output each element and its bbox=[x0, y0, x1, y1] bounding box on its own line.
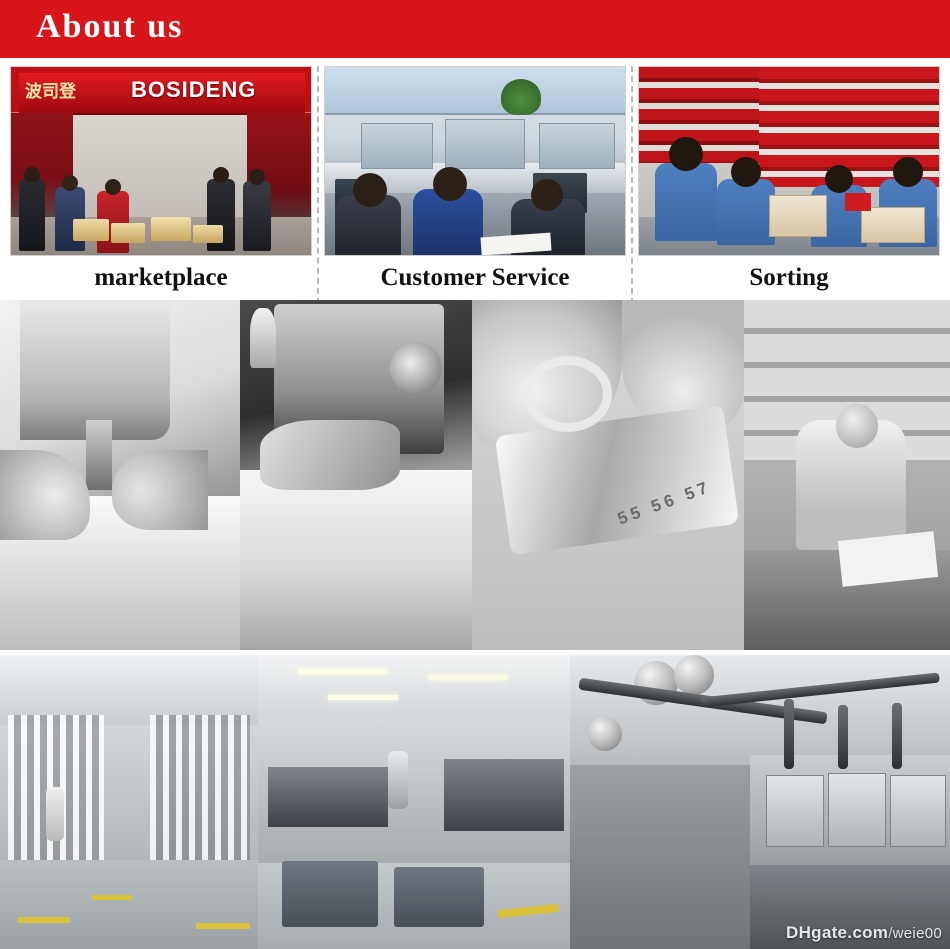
worker-1-head bbox=[669, 137, 703, 171]
shopper-2-head bbox=[62, 175, 78, 191]
shopper-5 bbox=[243, 181, 271, 251]
customer-service-photo bbox=[324, 66, 626, 256]
vertical-pipe-1 bbox=[784, 699, 794, 769]
staff-2-head bbox=[433, 167, 467, 201]
about-us-page: About us 波司登 BOSIDENG bbox=[0, 0, 950, 949]
watermark: DHgate.com/weie00 bbox=[786, 923, 942, 943]
pattern-making-photo bbox=[744, 300, 950, 650]
standing-worker bbox=[388, 751, 408, 809]
workstation-row-right bbox=[444, 759, 564, 831]
watermark-brand: DHgate.com bbox=[786, 923, 888, 942]
page-title: About us bbox=[36, 8, 183, 46]
cubicle-partition-3 bbox=[539, 123, 615, 169]
shopper-1 bbox=[19, 179, 45, 251]
machine-wheel bbox=[390, 342, 442, 394]
sorting-card: Sorting bbox=[638, 66, 940, 304]
product-box-1 bbox=[73, 219, 109, 241]
vertical-pipe-3 bbox=[892, 703, 902, 769]
sorting-photo bbox=[638, 66, 940, 256]
ceiling-lamp-3 bbox=[328, 695, 398, 700]
floor-marking-3 bbox=[196, 923, 250, 929]
needle-arm bbox=[86, 420, 112, 490]
worker-2-head bbox=[731, 157, 761, 187]
floor-marking-1 bbox=[18, 917, 70, 923]
sewing-floor-ceiling bbox=[258, 655, 570, 719]
header-bar: About us bbox=[0, 0, 950, 58]
customer-service-caption: Customer Service bbox=[324, 256, 626, 300]
cutting-scissors-photo: 55 56 57 bbox=[472, 300, 744, 650]
store-sign-chinese: 波司登 bbox=[25, 77, 135, 105]
office-window bbox=[325, 67, 626, 115]
sewing-floor-photo bbox=[258, 655, 570, 949]
watermark-separator: / bbox=[888, 925, 892, 942]
office-plant bbox=[501, 79, 541, 115]
garment-rail-right bbox=[150, 715, 250, 865]
fabric-bin-2 bbox=[394, 867, 484, 927]
vertical-pipe-2 bbox=[838, 705, 848, 769]
floor-marking-2 bbox=[92, 895, 132, 900]
cubicle-partition-2 bbox=[445, 119, 525, 169]
factory-row bbox=[0, 655, 950, 949]
sewing-machine-head bbox=[20, 300, 170, 440]
scissors-ring bbox=[524, 356, 612, 432]
worker-3-head bbox=[825, 165, 853, 193]
operator-hands bbox=[260, 420, 400, 490]
thread-cone bbox=[250, 308, 276, 368]
staff-1-head bbox=[353, 173, 387, 207]
column-divider-2 bbox=[631, 66, 633, 304]
top-photo-row: 波司登 BOSIDENG bbox=[0, 58, 950, 306]
customer-service-card: Customer Service bbox=[324, 66, 626, 304]
worker-2 bbox=[717, 179, 775, 245]
sewing-machine-photo bbox=[0, 300, 240, 650]
shopper-4-head bbox=[213, 167, 229, 183]
machine-panel-2 bbox=[828, 773, 886, 847]
shopper-1-head bbox=[24, 167, 40, 183]
machinery-photo bbox=[570, 655, 950, 949]
shopper-5-head bbox=[249, 169, 265, 185]
operator-hand-right bbox=[112, 450, 208, 530]
machine-panel-1 bbox=[766, 775, 824, 847]
ceiling-lamp-1 bbox=[298, 669, 388, 674]
workstation-row-left bbox=[268, 767, 388, 827]
warehouse-floor bbox=[0, 860, 258, 949]
garment-warehouse-photo bbox=[0, 655, 258, 949]
marketplace-card: 波司登 BOSIDENG bbox=[10, 66, 312, 304]
worker-1 bbox=[655, 163, 717, 241]
roller-3 bbox=[588, 717, 622, 751]
red-parcel bbox=[845, 193, 871, 211]
staff-3-head bbox=[531, 179, 563, 211]
worker-4-head bbox=[893, 157, 923, 187]
carton-box-2 bbox=[861, 207, 925, 243]
marketplace-photo: 波司登 BOSIDENG bbox=[10, 66, 312, 256]
machinery-left-section bbox=[570, 765, 750, 949]
ceiling-lamp-2 bbox=[428, 675, 508, 680]
carton-box-1 bbox=[769, 195, 827, 237]
production-detail-row: 55 56 57 bbox=[0, 300, 950, 650]
store-sign-brand: BOSIDENG bbox=[131, 77, 311, 107]
product-box-3 bbox=[151, 217, 191, 241]
watermark-user: weie00 bbox=[893, 925, 942, 942]
product-box-4 bbox=[193, 225, 223, 243]
fabric-under-needle bbox=[240, 470, 472, 650]
cubicle-partition-1 bbox=[361, 123, 433, 169]
overlock-machine-photo bbox=[240, 300, 472, 650]
worker-in-aisle bbox=[46, 787, 64, 841]
shopper-3-head bbox=[105, 179, 121, 195]
product-box-2 bbox=[111, 223, 145, 243]
column-divider-1 bbox=[317, 66, 319, 304]
roller-2 bbox=[674, 655, 714, 695]
machine-panel-3 bbox=[890, 775, 946, 847]
tailor-head bbox=[836, 404, 878, 448]
sorting-caption: Sorting bbox=[638, 256, 940, 300]
fabric-bin-1 bbox=[282, 861, 378, 927]
marketplace-caption: marketplace bbox=[10, 256, 312, 300]
